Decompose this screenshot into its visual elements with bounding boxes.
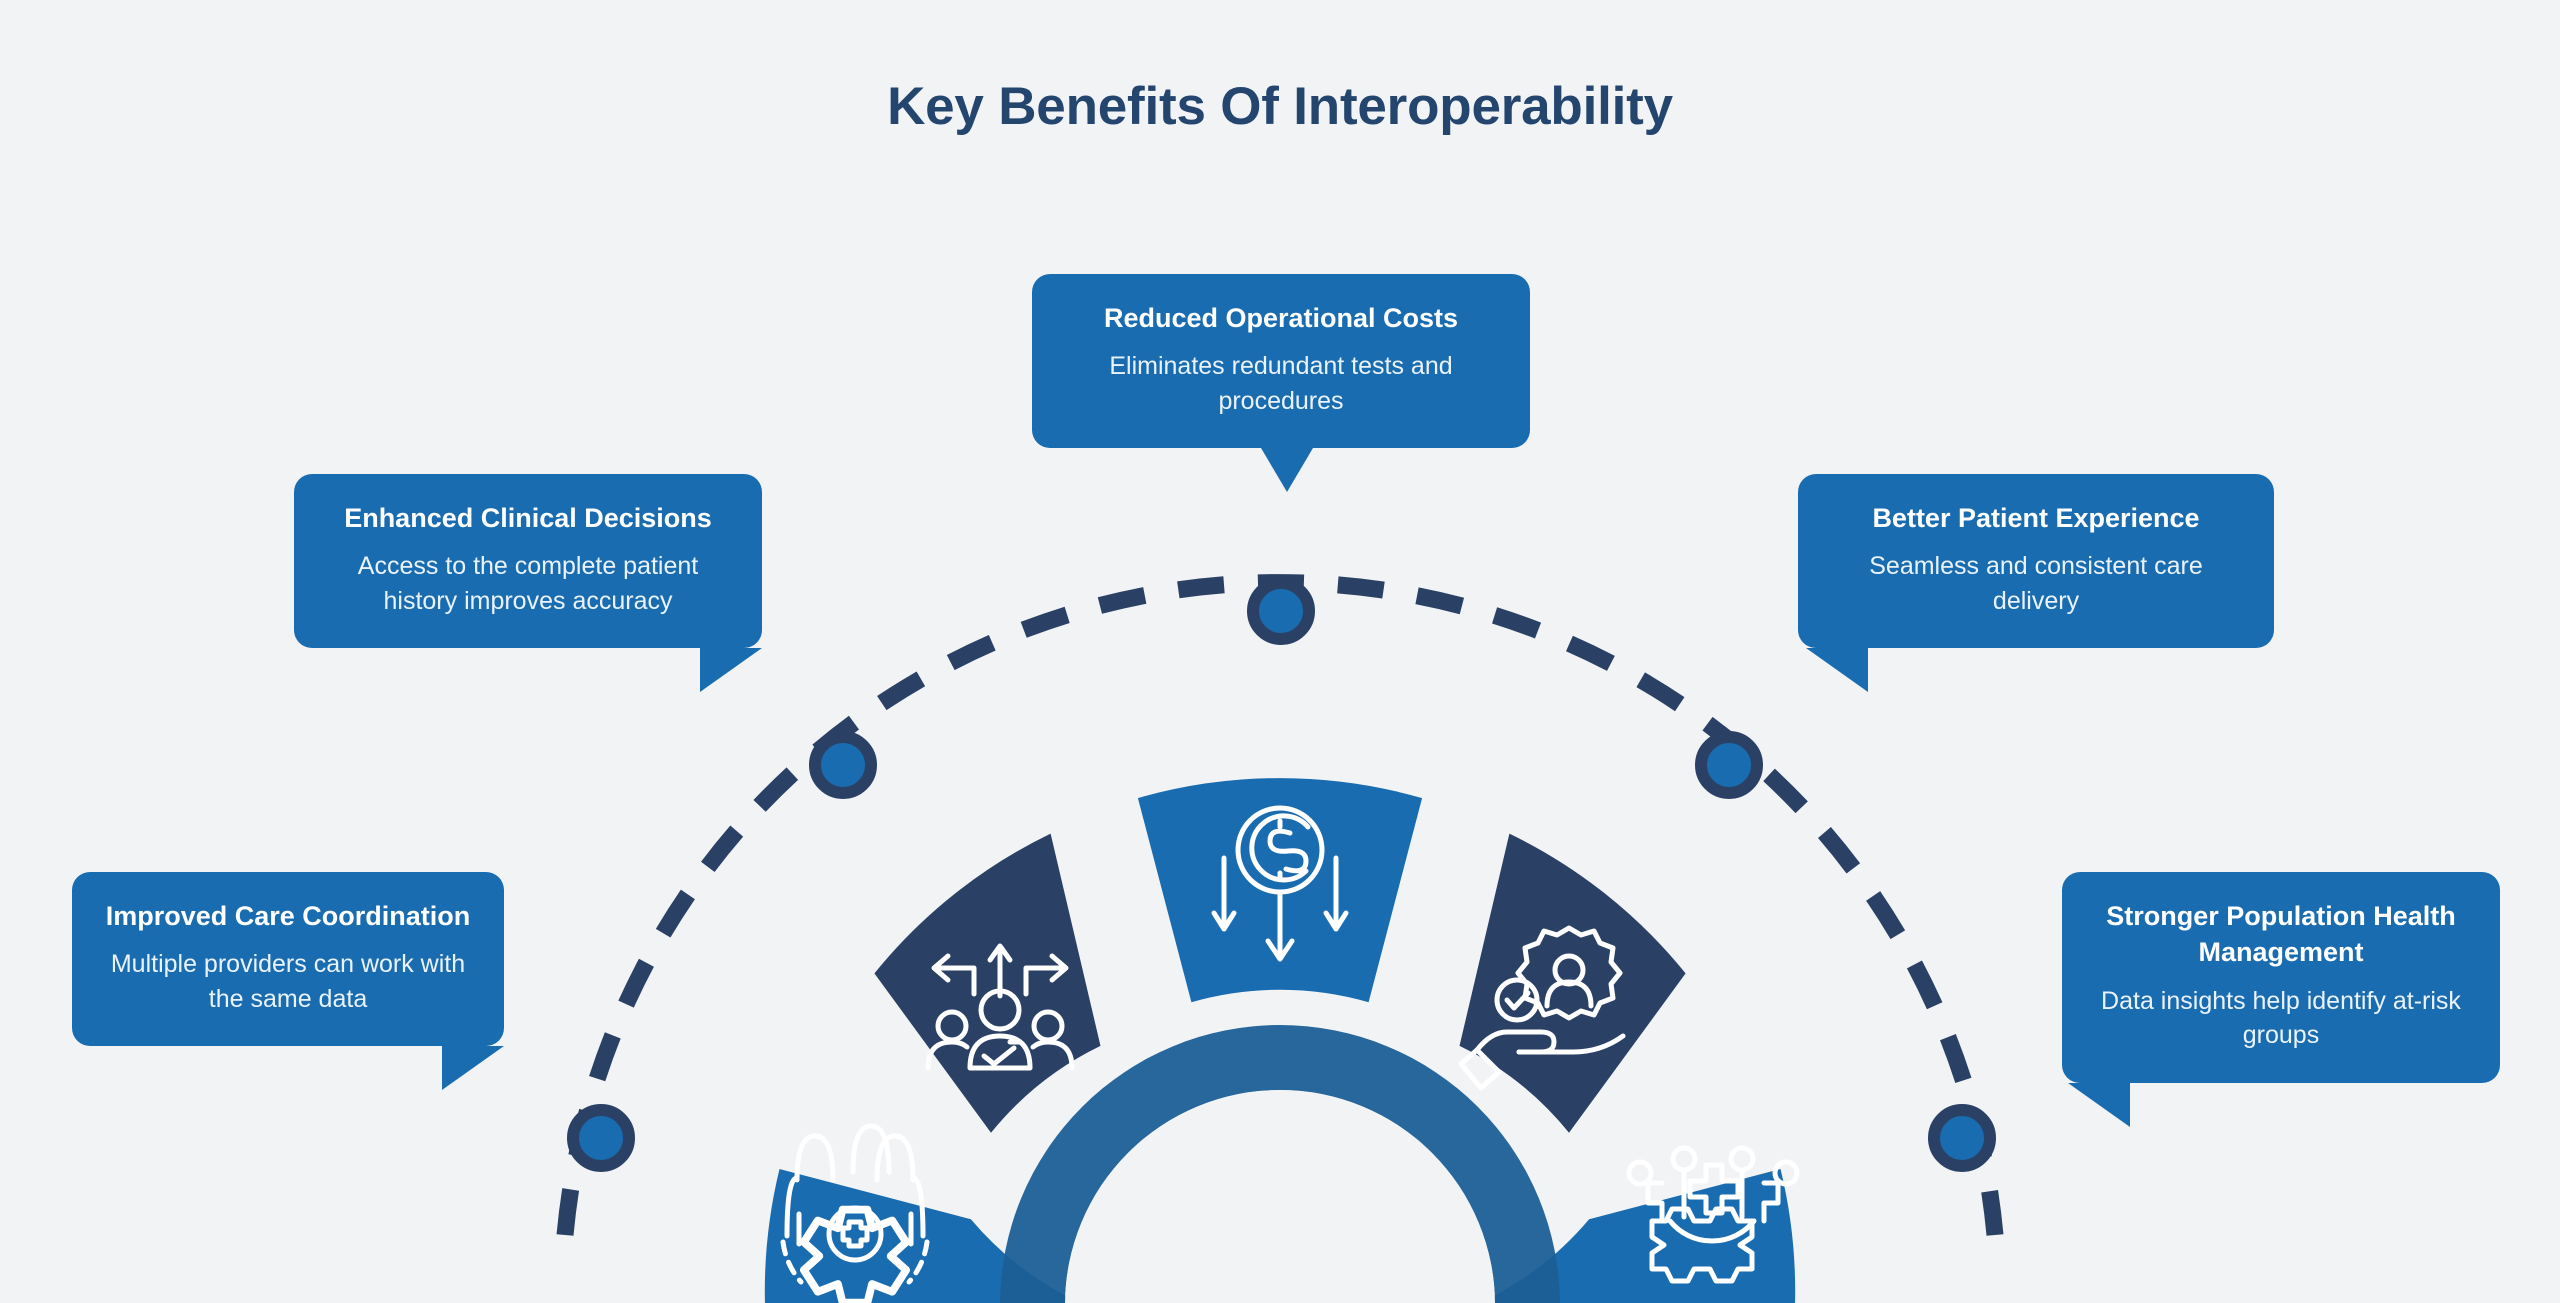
callout-title-clinical-decisions: Enhanced Clinical Decisions — [320, 500, 736, 536]
callout-title-population-health: Stronger Population Health Management — [2088, 898, 2474, 971]
wheel-center-hub — [1065, 1090, 1495, 1303]
dashed-connector-arc — [565, 583, 1995, 1235]
callout-tail-bottom-right-icon — [442, 1046, 504, 1090]
segment-care-coordination — [765, 1169, 1085, 1303]
callout-title-operational-costs: Reduced Operational Costs — [1058, 300, 1504, 336]
connector-dot-patient-experience[interactable] — [1701, 737, 1757, 793]
callout-desc-patient-experience: Seamless and consistent care delivery — [1824, 549, 2248, 618]
benefits-wheel — [0, 0, 2560, 1303]
callout-patient-experience[interactable]: Better Patient Experience Seamless and c… — [1798, 474, 2274, 648]
callout-operational-costs[interactable]: Reduced Operational Costs Eliminates red… — [1032, 274, 1530, 448]
callout-population-health[interactable]: Stronger Population Health Management Da… — [2062, 872, 2500, 1083]
donut-segments — [765, 778, 1795, 1303]
page-title: Key Benefits Of Interoperability — [0, 78, 2560, 136]
callout-desc-population-health: Data insights help identify at-risk grou… — [2088, 984, 2474, 1053]
connector-dot-population-health[interactable] — [1934, 1110, 1990, 1166]
callout-care-coordination[interactable]: Improved Care Coordination Multiple prov… — [72, 872, 504, 1046]
callout-desc-clinical-decisions: Access to the complete patient history i… — [320, 549, 736, 618]
callout-title-care-coordination: Improved Care Coordination — [98, 898, 478, 934]
infographic-canvas: Key Benefits Of Interoperability — [0, 0, 2560, 1303]
callout-tail-bottom-left-icon — [2068, 1083, 2130, 1127]
gear-medical-network-icon — [1629, 1148, 1797, 1281]
connector-dot-clinical-decisions[interactable] — [815, 737, 871, 793]
callout-tail-down-icon — [1261, 448, 1313, 492]
segment-operational-costs — [1138, 778, 1422, 1002]
connector-dot-care-coordination[interactable] — [573, 1110, 629, 1166]
segment-clinical-decisions — [874, 834, 1100, 1133]
connector-dot-operational-costs[interactable] — [1253, 583, 1309, 639]
people-direction-arrows-icon — [928, 946, 1072, 1068]
dollar-coin-down-arrows-icon — [1214, 808, 1346, 959]
callout-tail-bottom-left-icon — [1806, 648, 1868, 692]
hand-holding-person-badge-icon — [1461, 928, 1623, 1088]
callout-tail-bottom-right-icon — [700, 648, 762, 692]
segment-patient-experience — [1460, 834, 1686, 1133]
inner-ring-band — [1000, 1025, 1560, 1303]
callout-desc-operational-costs: Eliminates redundant tests and procedure… — [1058, 349, 1504, 418]
segment-population-health — [1475, 1169, 1795, 1303]
callout-clinical-decisions[interactable]: Enhanced Clinical Decisions Access to th… — [294, 474, 762, 648]
people-gear-medical-icon — [783, 1126, 927, 1303]
connector-dots — [0, 0, 2560, 1303]
callout-title-patient-experience: Better Patient Experience — [1824, 500, 2248, 536]
callout-desc-care-coordination: Multiple providers can work with the sam… — [98, 947, 478, 1016]
